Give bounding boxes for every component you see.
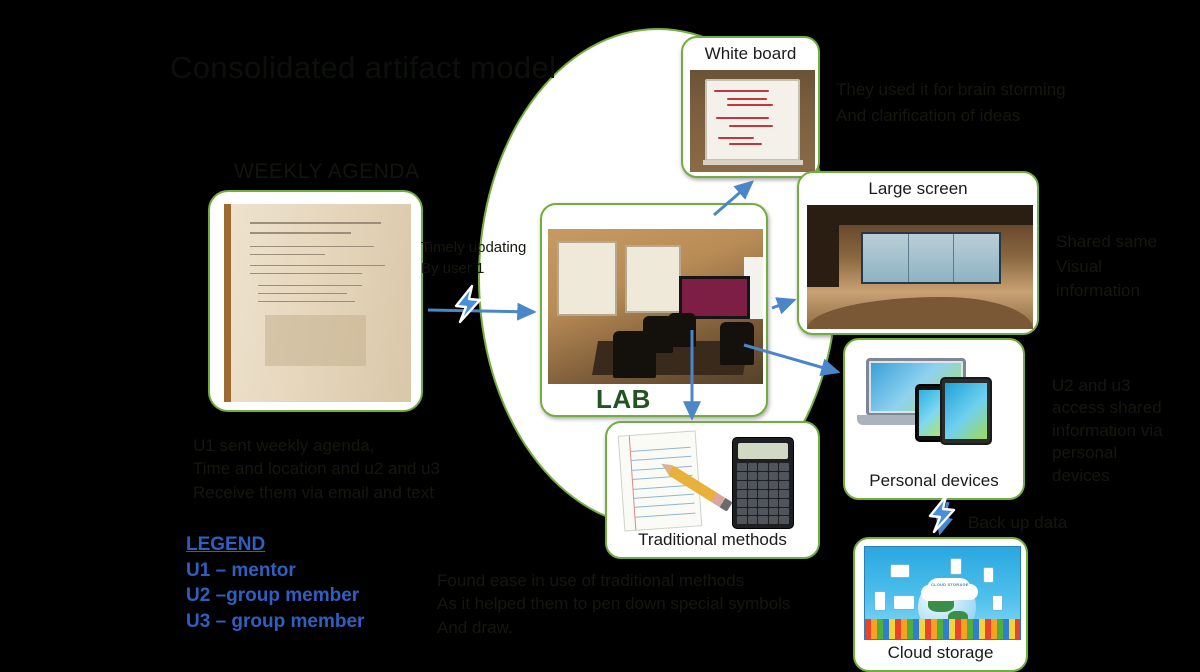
- legend-item-u1: U1 – mentor: [186, 558, 364, 584]
- lab-room-card[interactable]: [540, 203, 768, 417]
- lab-label: LAB: [596, 384, 651, 415]
- annotation-bottom-notes: Found ease in use of traditional methods…: [437, 569, 790, 639]
- page-title: Consolidated artifact model: [170, 50, 556, 86]
- annotation-access-shared: U2 and u3 access shared information via …: [1052, 375, 1163, 487]
- lab-room-photo: [548, 229, 763, 384]
- white-board-label: White board: [683, 44, 818, 64]
- cloud-storage-photo: CLOUD STORAGE: [864, 546, 1021, 640]
- legend: LEGEND U1 – mentor U2 –group member U3 –…: [186, 532, 364, 635]
- personal-devices-label: Personal devices: [845, 471, 1023, 491]
- video-wall: [861, 232, 1001, 284]
- lightning-bolt-icon-cloud: [926, 494, 960, 534]
- white-board-card[interactable]: White board: [681, 36, 820, 178]
- traditional-methods-label: Traditional methods: [607, 530, 818, 550]
- cloud-icon: CLOUD STORAGE: [927, 578, 971, 600]
- weekly-agenda-card[interactable]: [208, 190, 423, 412]
- cloud-storage-label: Cloud storage: [855, 643, 1026, 663]
- large-screen-card[interactable]: Large screen: [797, 171, 1039, 335]
- legend-item-u3: U3 – group member: [186, 609, 364, 635]
- annotation-backup-data: Back up data: [968, 511, 1067, 534]
- whiteboard-surface: [705, 79, 800, 161]
- document-spine: [224, 204, 231, 402]
- large-screen-label: Large screen: [799, 179, 1037, 199]
- cloud-storage-card[interactable]: CLOUD STORAGE Cloud storage: [853, 537, 1028, 672]
- marker-tray: [703, 160, 803, 165]
- annotation-brainstorming: They used it for brain storming And clar…: [836, 77, 1066, 128]
- personal-devices-card[interactable]: Personal devices: [843, 338, 1025, 500]
- legend-item-u2: U2 –group member: [186, 583, 364, 609]
- legend-title: LEGEND: [186, 532, 364, 558]
- colorful-skyline: [865, 619, 1020, 639]
- annotation-shared-visual: Shared same Visual information: [1056, 230, 1157, 304]
- room-seating: [807, 297, 1033, 329]
- large-screen-photo: [807, 205, 1033, 329]
- calculator-icon: [732, 437, 794, 529]
- lightning-bolt-icon-left: [452, 284, 486, 324]
- annotation-left-notes: U1 sent weekly agenda, Time and location…: [193, 434, 440, 504]
- tablet-icon: [940, 377, 992, 445]
- traditional-methods-card[interactable]: Traditional methods: [605, 421, 820, 559]
- weekly-agenda-title: WEEKLY AGENDA: [234, 160, 419, 184]
- annotation-timely-updating: Timely updating By user 1: [421, 238, 526, 279]
- slide-canvas: Consolidated artifact model WEEKLY AGEND…: [0, 0, 1200, 672]
- agenda-document-photo: [224, 204, 411, 402]
- white-board-photo: [690, 70, 815, 172]
